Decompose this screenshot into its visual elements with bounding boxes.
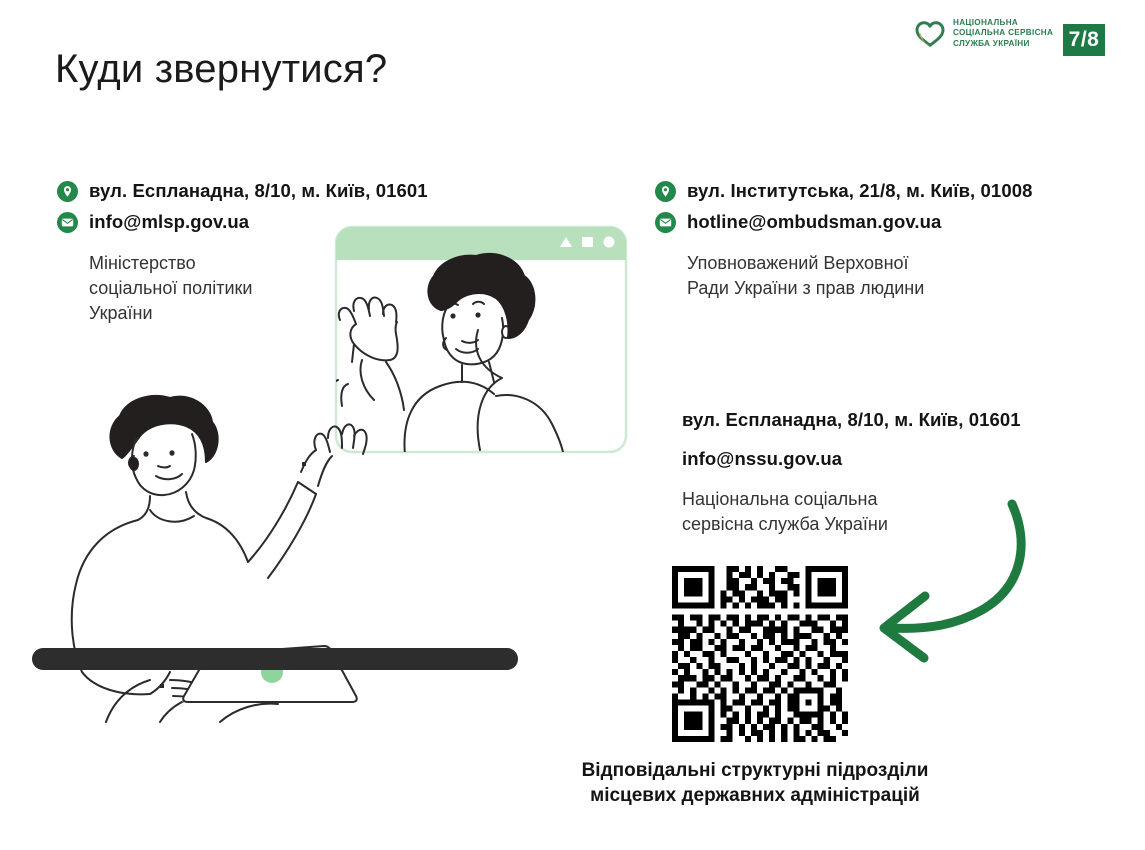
email-row[interactable]: info@nssu.gov.ua xyxy=(682,448,1112,470)
heart-logo-icon xyxy=(915,21,945,47)
address-text: вул. Еспланадна, 8/10, м. Київ, 01601 xyxy=(682,409,1021,431)
address-text: вул. Еспланадна, 8/10, м. Київ, 01601 xyxy=(89,180,428,202)
slide: НАЦІОНАЛЬНА СОЦІАЛЬНА СЕРВІСНА СЛУЖБА УК… xyxy=(0,0,1145,850)
brand-logo: НАЦІОНАЛЬНА СОЦІАЛЬНА СЕРВІСНА СЛУЖБА УК… xyxy=(915,18,1053,49)
address-row: вул. Еспланадна, 8/10, м. Київ, 01601 xyxy=(682,409,1112,431)
organization-description: Уповноважений Верховної Ради України з п… xyxy=(687,251,1125,301)
illustration-video-call xyxy=(10,210,660,730)
page-title: Куди звернутися? xyxy=(55,47,387,92)
curved-arrow-icon xyxy=(862,492,1052,672)
address-text: вул. Інститутська, 21/8, м. Київ, 01008 xyxy=(687,180,1032,202)
contact-block-ombudsman: вул. Інститутська, 21/8, м. Київ, 01008 … xyxy=(655,180,1125,301)
address-row: вул. Інститутська, 21/8, м. Київ, 01008 xyxy=(655,180,1125,202)
address-row: вул. Еспланадна, 8/10, м. Київ, 01601 xyxy=(57,180,577,202)
email-text[interactable]: info@nssu.gov.ua xyxy=(682,448,842,470)
email-text[interactable]: hotline@ombudsman.gov.ua xyxy=(687,211,941,233)
location-pin-icon xyxy=(57,181,78,202)
email-row[interactable]: hotline@ombudsman.gov.ua xyxy=(655,211,1125,233)
qr-code[interactable] xyxy=(672,566,848,742)
page-number-badge: 7/8 xyxy=(1063,24,1105,56)
location-pin-icon xyxy=(655,181,676,202)
qr-caption: Відповідальні структурні підрозділи місц… xyxy=(495,758,1015,808)
brand-name: НАЦІОНАЛЬНА СОЦІАЛЬНА СЕРВІСНА СЛУЖБА УК… xyxy=(953,18,1053,49)
